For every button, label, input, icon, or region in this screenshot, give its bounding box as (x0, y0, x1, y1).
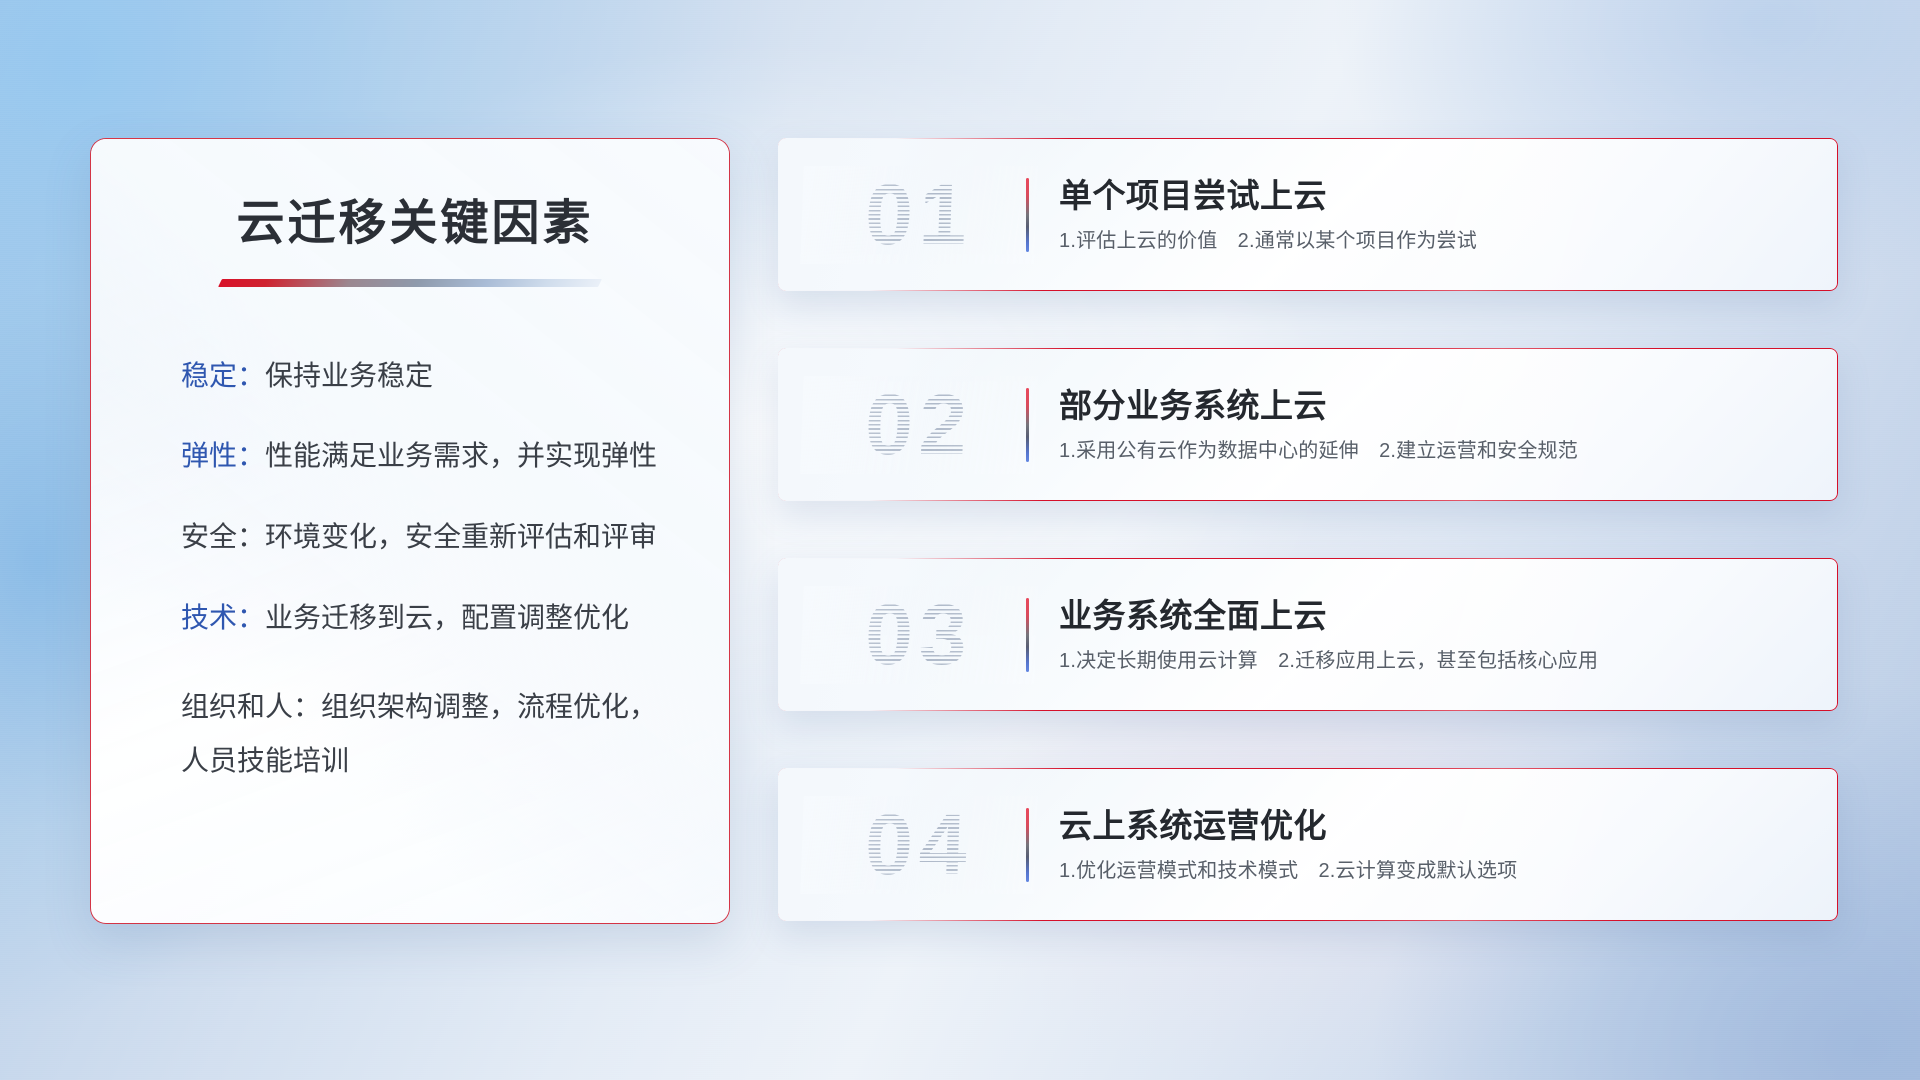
key-factors-panel: 云迁移关键因素 稳定：保持业务稳定 弹性：性能满足业务需求，并实现弹性 安全：环… (90, 138, 730, 924)
slide-canvas: 云迁移关键因素 稳定：保持业务稳定 弹性：性能满足业务需求，并实现弹性 安全：环… (0, 0, 1920, 1080)
factor-row: 弹性：性能满足业务需求，并实现弹性 (181, 437, 675, 475)
factor-row: 安全：环境变化，安全重新评估和评审 (181, 518, 675, 556)
factor-row: 稳定：保持业务稳定 (181, 357, 675, 395)
factor-label: 技术： (181, 602, 265, 633)
factor-list: 稳定：保持业务稳定 弹性：性能满足业务需求，并实现弹性 安全：环境变化，安全重新… (145, 357, 675, 789)
factor-text: 保持业务稳定 (265, 360, 433, 391)
stage-card-list: 01 单个项目尝试上云 1.评估上云的价值 2.通常以某个项目作为尝试 02 部… (778, 138, 1838, 921)
stage-number: 02 (810, 382, 1027, 468)
factor-row: 组织和人：组织架构调整，流程优化，人员技能培训 (181, 680, 675, 789)
stage-card[interactable]: 04 云上系统运营优化 1.优化运营模式和技术模式 2.云计算变成默认选项 (778, 768, 1838, 921)
stage-number: 03 (810, 592, 1027, 678)
factor-label: 安全： (181, 521, 265, 552)
stage-title: 部分业务系统上云 (1059, 385, 1812, 426)
stage-subtitle: 1.决定长期使用云计算 2.迁移应用上云，甚至包括核心应用 (1059, 648, 1812, 674)
factor-label: 组织和人： (181, 691, 321, 722)
stage-card[interactable]: 02 部分业务系统上云 1.采用公有云作为数据中心的延伸 2.建立运营和安全规范 (778, 348, 1838, 501)
stage-subtitle: 1.采用公有云作为数据中心的延伸 2.建立运营和安全规范 (1059, 438, 1812, 464)
stage-card[interactable]: 01 单个项目尝试上云 1.评估上云的价值 2.通常以某个项目作为尝试 (778, 138, 1838, 291)
factor-text: 性能满足业务需求，并实现弹性 (265, 440, 657, 471)
factor-label: 稳定： (181, 360, 265, 391)
stage-title: 单个项目尝试上云 (1059, 175, 1812, 216)
stage-subtitle: 1.评估上云的价值 2.通常以某个项目作为尝试 (1059, 228, 1812, 254)
factor-row: 技术：业务迁移到云，配置调整优化 (181, 599, 675, 637)
stage-number: 04 (810, 802, 1027, 888)
factor-text: 环境变化，安全重新评估和评审 (265, 521, 657, 552)
stage-subtitle: 1.优化运营模式和技术模式 2.云计算变成默认选项 (1059, 858, 1812, 884)
stage-number: 01 (810, 172, 1027, 258)
stage-card[interactable]: 03 业务系统全面上云 1.决定长期使用云计算 2.迁移应用上云，甚至包括核心应… (778, 558, 1838, 711)
factor-text: 业务迁移到云，配置调整优化 (265, 602, 629, 633)
factor-label: 弹性： (181, 440, 265, 471)
page-title: 云迁移关键因素 (145, 195, 675, 253)
stage-title: 云上系统运营优化 (1059, 805, 1812, 846)
title-underline-rule (218, 279, 602, 287)
stage-title: 业务系统全面上云 (1059, 595, 1812, 636)
